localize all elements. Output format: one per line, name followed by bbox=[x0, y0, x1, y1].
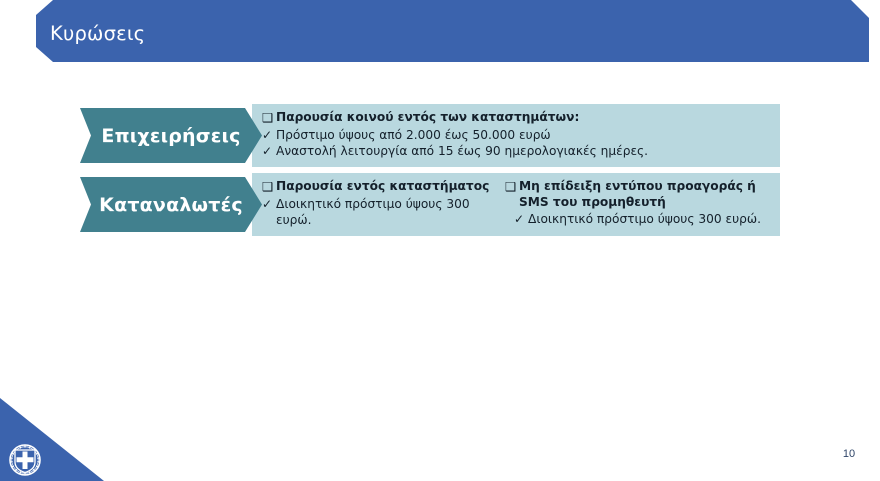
bullet-list-item: ✓ Διοικητικό πρόστιμο ύψους 300 ευρώ. bbox=[262, 196, 494, 229]
page-title: Κυρώσεις bbox=[50, 23, 145, 45]
check-icon: ✓ bbox=[514, 211, 528, 228]
bullet-item-text: Πρόστιμο ύψους από 2.000 έως 50.000 ευρώ bbox=[276, 127, 774, 144]
bullet-heading-text: Μη επίδειξη εντύπου προαγοράς ή SMS του … bbox=[519, 179, 773, 210]
row-label-text: Επιχειρήσεις bbox=[101, 125, 240, 147]
content-panel-businesses: ❑ Παρουσία κοινού εντός των καταστημάτων… bbox=[252, 104, 780, 167]
row-label-consumers[interactable]: Καταναλωτές bbox=[80, 177, 262, 232]
bullet-item-text: Διοικητικό πρόστιμο ύψους 300 ευρώ. bbox=[528, 211, 773, 228]
content-column: ❑ Παρουσία εντός καταστήματος ✓ Διοικητι… bbox=[262, 179, 494, 229]
check-icon: ✓ bbox=[262, 143, 276, 160]
row-label-businesses[interactable]: Επιχειρήσεις bbox=[80, 108, 262, 163]
bullet-list-item: ✓ Πρόστιμο ύψους από 2.000 έως 50.000 ευ… bbox=[262, 127, 774, 144]
page-number: 10 bbox=[836, 448, 862, 460]
check-icon: ✓ bbox=[262, 196, 276, 213]
square-bullet-icon: ❑ bbox=[505, 179, 519, 195]
hellenic-republic-coat-of-arms-icon bbox=[9, 444, 41, 476]
bullet-heading-text: Παρουσία εντός καταστήματος bbox=[276, 179, 494, 195]
bullet-list-item: ✓ Διοικητικό πρόστιμο ύψους 300 ευρώ. bbox=[505, 211, 773, 228]
content-column: ❑ Μη επίδειξη εντύπου προαγοράς ή SMS το… bbox=[505, 179, 773, 228]
row-label-text: Καταναλωτές bbox=[99, 194, 243, 216]
square-bullet-icon: ❑ bbox=[262, 179, 276, 195]
bullet-heading: ❑ Παρουσία κοινού εντός των καταστημάτων… bbox=[262, 110, 774, 126]
bullet-heading: ❑ Μη επίδειξη εντύπου προαγοράς ή SMS το… bbox=[505, 179, 773, 210]
square-bullet-icon: ❑ bbox=[262, 110, 276, 126]
bullet-list-item: ✓ Αναστολή λειτουργία από 15 έως 90 ημερ… bbox=[262, 143, 774, 160]
bullet-item-text: Διοικητικό πρόστιμο ύψους 300 ευρώ. bbox=[276, 196, 494, 229]
content-panel-consumers: ❑ Παρουσία εντός καταστήματος ✓ Διοικητι… bbox=[252, 173, 780, 236]
check-icon: ✓ bbox=[262, 127, 276, 144]
bullet-heading: ❑ Παρουσία εντός καταστήματος bbox=[262, 179, 494, 195]
content-column: ❑ Παρουσία κοινού εντός των καταστημάτων… bbox=[262, 110, 774, 160]
title-banner bbox=[36, 0, 869, 62]
slide-canvas: Κυρώσεις ❑ Παρουσία κοινού εντός των κατ… bbox=[0, 0, 880, 481]
bullet-heading-text: Παρουσία κοινού εντός των καταστημάτων: bbox=[276, 110, 774, 126]
bullet-item-text: Αναστολή λειτουργία από 15 έως 90 ημερολ… bbox=[276, 143, 774, 160]
